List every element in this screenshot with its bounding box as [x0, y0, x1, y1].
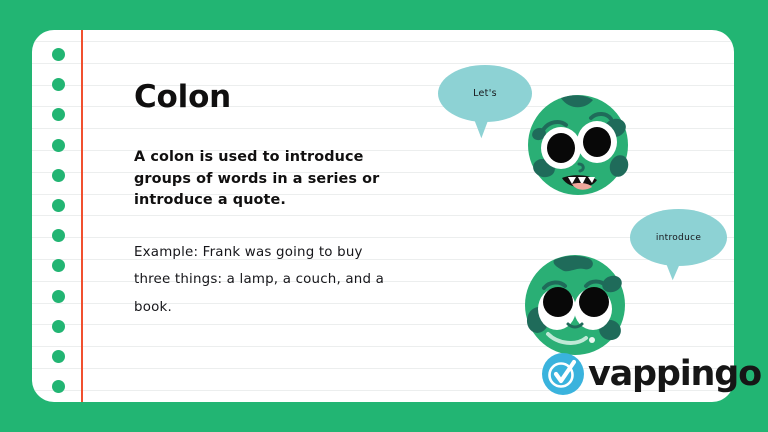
- example-text: Example: Frank was going to buy three th…: [134, 239, 396, 322]
- ruled-line: [32, 63, 734, 64]
- punch-hole: [52, 350, 65, 363]
- speech-bubble-introduce: introduce: [630, 209, 727, 266]
- punch-hole: [52, 48, 65, 61]
- slide-canvas: Colon A colon is used to introduce group…: [0, 0, 768, 432]
- vappingo-logo[interactable]: vappingo: [541, 352, 761, 396]
- punch-hole: [52, 320, 65, 333]
- speech-bubble-lets-text: Let's: [473, 88, 497, 99]
- ruled-line: [32, 41, 734, 42]
- speech-bubble-lets: Let's: [438, 65, 532, 122]
- punch-hole: [52, 139, 65, 152]
- definition-text: A colon is used to introduce groups of w…: [134, 147, 386, 212]
- ruled-line: [32, 324, 734, 325]
- vappingo-wordmark: vappingo: [588, 357, 761, 392]
- punch-hole: [52, 290, 65, 303]
- green-monster-closed-smile-icon: [524, 254, 626, 356]
- punch-hole: [52, 199, 65, 212]
- punch-hole: [52, 169, 65, 182]
- margin-line: [81, 30, 83, 402]
- text-column: Colon A colon is used to introduce group…: [134, 82, 434, 321]
- page-title: Colon: [134, 82, 434, 113]
- green-monster-open-mouth-icon: [527, 94, 629, 196]
- speech-bubble-introduce-text: introduce: [656, 233, 701, 243]
- ruled-line: [32, 346, 734, 347]
- check-circle-icon: [541, 352, 585, 396]
